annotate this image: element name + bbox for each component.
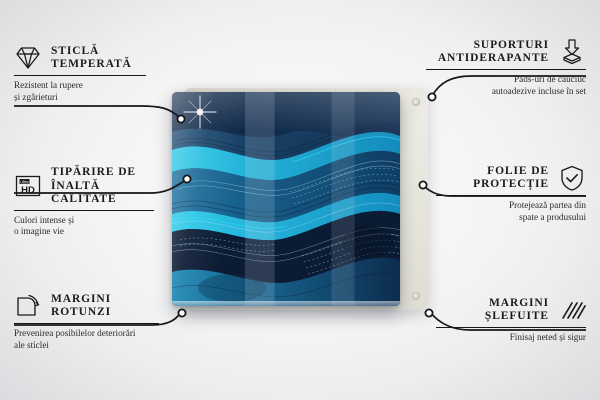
feature-desc: Rezistent la rupere și zgârieturi [14,80,146,103]
feature-divider [14,210,154,211]
press-down-pad-icon [558,38,586,66]
feature-title: MARGINI ȘLEFUITE [485,297,549,324]
feature-desc: Prevenirea posibilelor deteriorări ale s… [14,328,159,351]
rubber-pad-bottom-right [412,292,420,300]
feature-title: STICLĂ TEMPERATĂ [51,45,132,72]
ultra-hd-icon: ultra HD [14,172,42,200]
wire-node-margini-rotunzi [178,309,185,316]
hd-label: HD [21,185,35,196]
feature-margini-slefuite: MARGINI ȘLEFUITE Finisaj neted și sigur [436,296,586,344]
feature-title: MARGINI ROTUNZI [51,293,111,320]
glass-bottom-edge [172,301,400,306]
feature-desc: Protejează partea din spate a produsului [436,200,586,223]
diamond-icon [14,44,42,72]
wire-sticla-temperata [14,106,180,118]
feature-title: TIPĂRIRE DE ÎNALTĂ CALITATE [51,166,154,207]
abstract-wave-artwork [172,92,400,306]
product-image [172,92,428,310]
polished-edge-hatch-icon [558,296,586,324]
feature-title: SUPORTURI ANTIDERAPANTE [438,39,549,66]
feature-suporturi-antiderapante: SUPORTURI ANTIDERAPANTE Pads-uri de cauc… [426,38,586,97]
rounded-corner-icon [14,292,42,320]
feature-desc: Pads-uri de cauciuc autoadezive incluse … [426,74,586,97]
feature-divider [426,69,586,70]
shield-check-icon [558,164,586,192]
feature-sticla-temperata: STICLĂ TEMPERATĂ Rezistent la rupere și … [14,44,146,103]
feature-title: FOLIE DE PROTECȚIE [473,165,549,192]
feature-tiparire-inalta-calitate: ultra HD TIPĂRIRE DE ÎNALTĂ CALITATE Cul… [14,166,154,238]
wire-node-margini-slefuite [425,309,432,316]
feature-divider [436,327,586,328]
feature-divider [14,323,159,324]
infographic-canvas: STICLĂ TEMPERATĂ Rezistent la rupere și … [0,0,600,400]
feature-desc: Culori intense și o imagine vie [14,215,154,238]
feature-margini-rotunzi: MARGINI ROTUNZI Prevenirea posibilelor d… [14,292,159,351]
ultra-label: ultra [20,180,29,185]
feature-divider [436,195,586,196]
feature-desc: Finisaj neted și sigur [436,332,586,344]
glass-panel-artwork [172,92,400,306]
feature-folie-de-protectie: FOLIE DE PROTECȚIE Protejează partea din… [436,164,586,223]
feature-divider [14,75,146,76]
rubber-pad-top-right [412,98,420,106]
